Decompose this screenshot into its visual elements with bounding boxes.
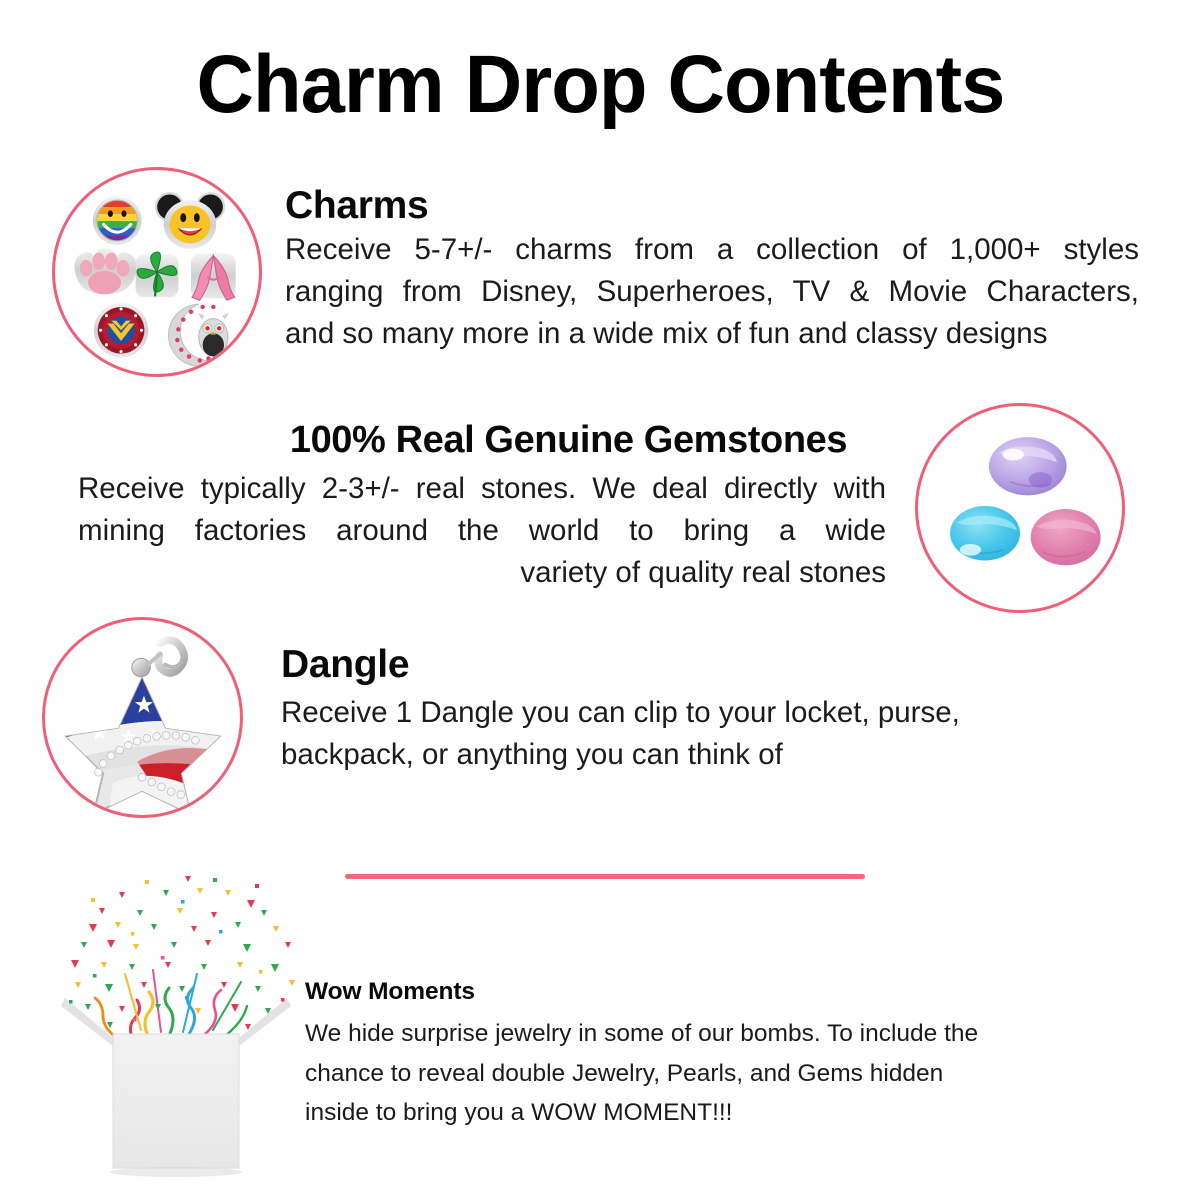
gemstones-body: Receive typically 2-3+/- real stones. We…: [78, 468, 886, 594]
gift-box: [110, 1034, 242, 1177]
gemstones-body-line-2: mining factories around the world to bri…: [78, 510, 886, 552]
pink-awareness-ribbon-charm: [191, 254, 236, 301]
wow-moments-body-line-2: chance to reveal double Jewelry, Pearls,…: [305, 1054, 1095, 1094]
blue-topaz-oval-gem: [950, 506, 1020, 560]
dangle-body: Receive 1 Dangle you can clip to your lo…: [281, 692, 1001, 776]
wow-moments-body: We hide surprise jewelry in some of our …: [305, 1014, 1095, 1133]
gemstones-body-line-1: Receive typically 2-3+/- real stones. We…: [78, 468, 886, 510]
pink-paw-print-charm: [74, 248, 136, 295]
mickey-mouse-charm: [156, 193, 224, 248]
wow-moments-heading: Wow Moments: [305, 979, 475, 1005]
wonder-woman-logo-charm: [94, 303, 148, 357]
charms-photo-circle: [52, 167, 262, 377]
section-divider: [345, 874, 865, 879]
gemstones-photo-circle: [915, 403, 1125, 613]
infographic-page: Charm Drop Contents: [0, 0, 1201, 1201]
charms-body-line-3: and so many more in a wide mix of fun an…: [285, 313, 1139, 355]
rainbow-smiley-charm: [93, 196, 143, 245]
confetti-burst: [69, 876, 295, 1040]
gemstones-body-line-3: variety of quality real stones: [78, 552, 886, 594]
purple-amethyst-oval-gem: [989, 437, 1067, 495]
charms-body: Receive 5-7+/- charms from a collection …: [285, 229, 1139, 355]
dangle-photo-circle: [42, 617, 243, 818]
gemstones-heading: 100% Real Genuine Gemstones: [243, 421, 894, 461]
charms-heading: Charms: [285, 186, 428, 227]
dangle-heading: Dangle: [281, 645, 409, 686]
dangle-body-line-2: backpack, or anything you can think of: [281, 734, 1001, 776]
american-flag-star-dangle: [45, 620, 240, 815]
charms-body-line-1: Receive 5-7+/- charms from a collection …: [285, 229, 1139, 271]
dangle-body-line-1: Receive 1 Dangle you can clip to your lo…: [281, 692, 1001, 734]
charms-body-line-2: ranging from Disney, Superheroes, TV & M…: [285, 271, 1139, 313]
wow-moments-body-line-1: We hide surprise jewelry in some of our …: [305, 1014, 1095, 1054]
confetti-box-illustration: [45, 870, 307, 1201]
owl-on-crescent-moon-charm: [169, 304, 229, 366]
page-title: Charm Drop Contents: [18, 44, 1183, 126]
pink-tourmaline-oval-gem: [1031, 509, 1101, 565]
wow-moments-body-line-3: inside to bring you a WOW MOMENT!!!: [305, 1093, 1095, 1133]
lobster-clasp: [132, 640, 184, 677]
green-four-leaf-clover-charm: [136, 252, 179, 297]
